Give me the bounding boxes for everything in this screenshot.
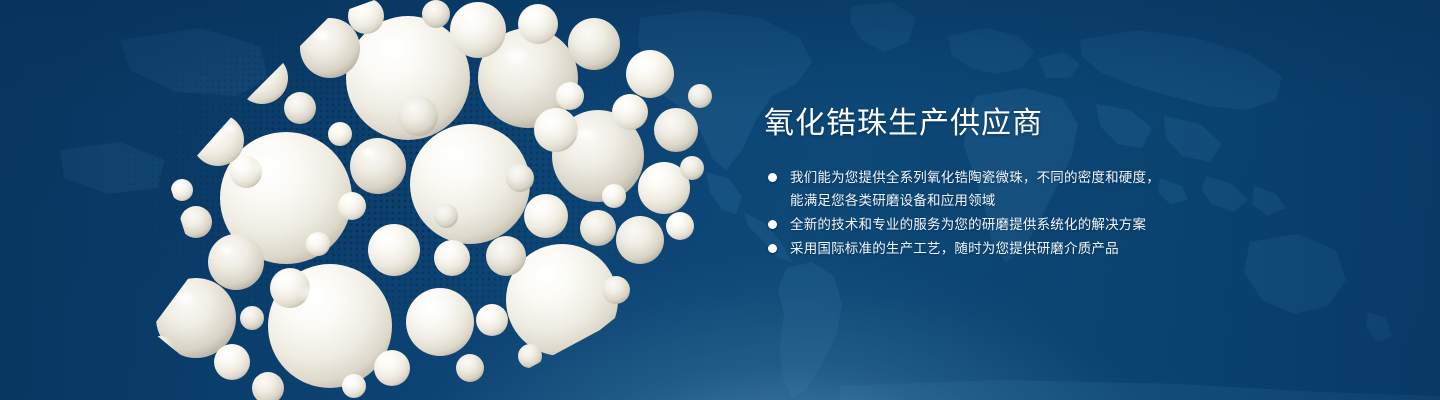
bullet-dot-icon (768, 220, 777, 229)
feature-list: 我们能为您提供全系列氧化锆陶瓷微珠，不同的密度和硬度， 能满足您各类研磨设备和应… (764, 166, 1284, 260)
banner-content: 氧化锆珠生产供应商 我们能为您提供全系列氧化锆陶瓷微珠，不同的密度和硬度， 能满… (764, 104, 1284, 261)
list-item-line-1: 采用国际标准的生产工艺，随时为您提供研磨介质产品 (790, 241, 1119, 256)
hero-banner: 氧化锆珠生产供应商 我们能为您提供全系列氧化锆陶瓷微珠，不同的密度和硬度， 能满… (0, 0, 1440, 400)
list-item: 全新的技术和专业的服务为您的研磨提供系统化的解决方案 (764, 213, 1284, 236)
list-item-line-2: 能满足您各类研磨设备和应用领域 (790, 189, 1284, 212)
list-item: 我们能为您提供全系列氧化锆陶瓷微珠，不同的密度和硬度， 能满足您各类研磨设备和应… (764, 166, 1284, 212)
list-item-line-1: 我们能为您提供全系列氧化锆陶瓷微珠，不同的密度和硬度， (790, 170, 1160, 185)
list-item-line-1: 全新的技术和专业的服务为您的研磨提供系统化的解决方案 (790, 217, 1146, 232)
bullet-dot-icon (768, 173, 777, 182)
page-title: 氧化锆珠生产供应商 (764, 104, 1284, 144)
bullet-dot-icon (768, 244, 777, 253)
list-item: 采用国际标准的生产工艺，随时为您提供研磨介质产品 (764, 237, 1284, 260)
